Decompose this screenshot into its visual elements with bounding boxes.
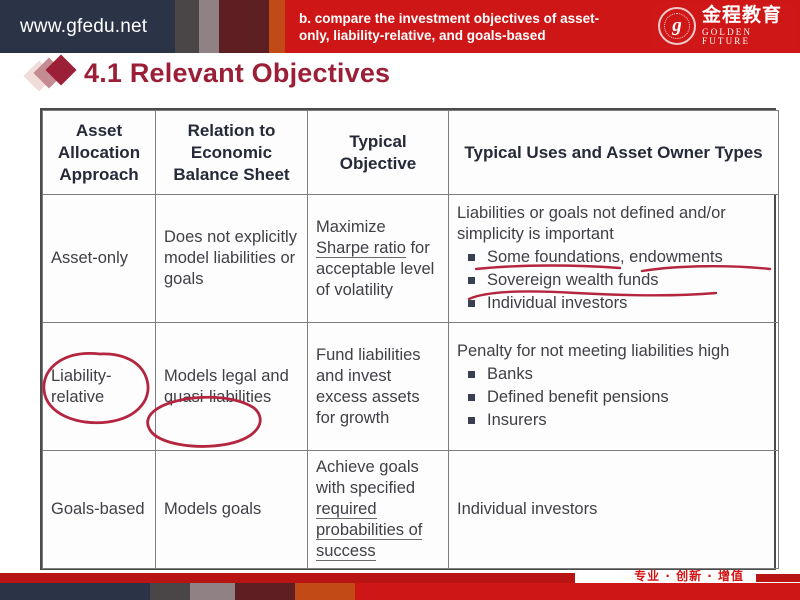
column-header-uses: Typical Uses and Asset Owner Types: [449, 111, 779, 195]
header-band-maroon: [219, 0, 269, 53]
header-band-orange: [269, 0, 285, 53]
list-item-label: Insurers: [487, 411, 547, 429]
footer-band-dark-gray: [150, 583, 190, 600]
list-item: Insurers: [461, 409, 770, 432]
uses-intro-text: Liabilities or goals not defined and/or …: [457, 203, 770, 245]
header-band-dark-gray: [175, 0, 199, 53]
logo-wordmark: 金程教育 GOLDEN FUTURE: [702, 6, 798, 46]
column-header-objective: Typical Objective: [308, 111, 449, 195]
learning-objective-line-2: only, liability-relative, and goals-base…: [299, 27, 640, 44]
site-url: www.gfedu.net: [0, 16, 147, 38]
cell-uses-asset-only: Liabilities or goals not defined and/or …: [449, 195, 779, 323]
uses-bullet-list: Some foundations, endowments Sovereign w…: [461, 246, 770, 315]
square-bullet-icon: [468, 300, 475, 307]
list-item-label: Sovereign wealth funds: [487, 271, 659, 289]
footer-slogan: 专业 · 创新 · 增值: [634, 567, 744, 584]
list-item: Defined benefit pensions: [461, 386, 770, 409]
square-bullet-icon: [468, 254, 475, 261]
list-item-label: Individual investors: [487, 294, 627, 312]
column-header-balance-sheet: Relation to Economic Balance Sheet: [156, 111, 308, 195]
page-title: 4.1 Relevant Objectives: [84, 58, 390, 89]
footer-band-orange: [295, 583, 355, 600]
list-item: Banks: [461, 363, 770, 386]
comparison-table-wrapper: Asset Allocation Approach Relation to Ec…: [40, 108, 776, 570]
objective-prefix: Achieve goals with specified: [316, 458, 419, 497]
footer-band-navy: [0, 583, 150, 600]
cell-approach-liability-relative: Liability-relative: [43, 323, 156, 451]
cell-approach-asset-only: Asset-only: [43, 195, 156, 323]
logo-seal-icon: g: [658, 7, 696, 45]
cell-uses-goals-based: Individual investors: [449, 451, 779, 569]
learning-objective-line-1: b. compare the investment objectives of …: [299, 10, 640, 27]
table-row: Asset-only Does not explicitly model lia…: [43, 195, 779, 323]
slide-header: www.gfedu.net b. compare the investment …: [0, 0, 800, 53]
diamond-bullet-icon: [28, 57, 84, 89]
list-item: Sovereign wealth funds: [461, 269, 770, 292]
cell-objective-liability-relative: Fund liabilities and invest excess asset…: [308, 323, 449, 451]
header-band-red: b. compare the investment objectives of …: [285, 0, 800, 53]
header-band-gray: [199, 0, 219, 53]
logo-name-english: GOLDEN FUTURE: [702, 28, 798, 46]
footer-strip: 专业 · 创新 · 增值: [0, 570, 800, 583]
header-band-navy: www.gfedu.net: [0, 0, 175, 53]
slide-title-row: 4.1 Relevant Objectives: [28, 52, 390, 94]
list-item: Some foundations, endowments: [461, 246, 770, 269]
table-row: Liability-relative Models legal and quas…: [43, 323, 779, 451]
objective-underlined-term: Sharpe ratio: [316, 239, 406, 258]
logo-name-chinese: 金程教育: [702, 6, 798, 25]
slide-footer: [0, 583, 800, 600]
table-row: Goals-based Models goals Achieve goals w…: [43, 451, 779, 569]
cell-objective-goals-based: Achieve goals with specified required pr…: [308, 451, 449, 569]
table-header-row: Asset Allocation Approach Relation to Ec…: [43, 111, 779, 195]
cell-balance-sheet-goals-based: Models goals: [156, 451, 308, 569]
square-bullet-icon: [468, 394, 475, 401]
list-item-label: Banks: [487, 365, 533, 383]
footer-band-maroon: [235, 583, 295, 600]
footer-band-red: [355, 583, 800, 600]
footer-band-gray: [190, 583, 235, 600]
uses-intro-text: Penalty for not meeting liabilities high: [457, 341, 770, 362]
cell-uses-liability-relative: Penalty for not meeting liabilities high…: [449, 323, 779, 451]
cell-balance-sheet-liability-relative: Models legal and quasi-liabilities: [156, 323, 308, 451]
cell-objective-asset-only: Maximize Sharpe ratio for acceptable lev…: [308, 195, 449, 323]
list-item: Individual investors: [461, 292, 770, 315]
logo-monogram: g: [660, 9, 694, 43]
square-bullet-icon: [468, 371, 475, 378]
column-header-approach: Asset Allocation Approach: [43, 111, 156, 195]
uses-bullet-list: Banks Defined benefit pensions Insurers: [461, 363, 770, 432]
objective-underlined-term: required probabilities of success: [316, 500, 422, 561]
cell-approach-goals-based: Goals-based: [43, 451, 156, 569]
objective-prefix: Maximize: [316, 218, 386, 236]
list-item-label: Some foundations, endowments: [487, 248, 723, 266]
comparison-table: Asset Allocation Approach Relation to Ec…: [42, 110, 779, 569]
list-item-label: Defined benefit pensions: [487, 388, 669, 406]
footer-red-tail: [756, 574, 800, 582]
cell-balance-sheet-asset-only: Does not explicitly model liabilities or…: [156, 195, 308, 323]
square-bullet-icon: [468, 417, 475, 424]
square-bullet-icon: [468, 277, 475, 284]
footer-red-bar: [0, 573, 575, 583]
brand-logo: g 金程教育 GOLDEN FUTURE: [650, 2, 798, 49]
